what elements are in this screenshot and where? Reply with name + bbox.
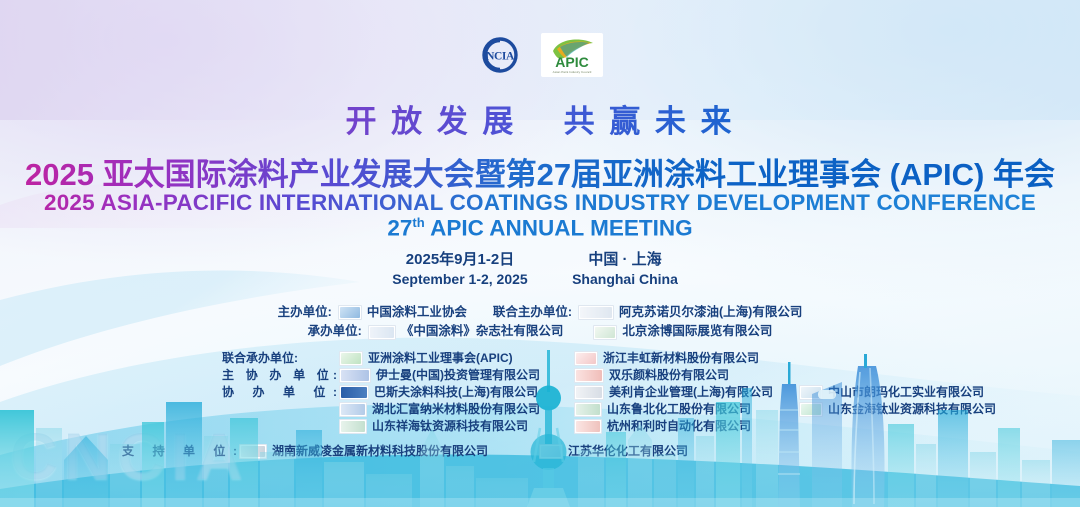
oriental-pearl-tower (527, 350, 570, 507)
event-date-en: September 1-2, 2025 (375, 270, 545, 289)
event-datebar: 2025年9月1-2日 September 1-2, 2025 中国 · 上海 … (0, 250, 1080, 289)
ncia-logo-icon: NCIA (477, 32, 523, 78)
cohost-label: 联合主办单位: (493, 303, 572, 322)
world-financial-center (812, 382, 842, 507)
event-place: 中国 · 上海 Shanghai China (545, 250, 705, 289)
event-place-en: Shanghai China (545, 270, 705, 289)
svg-text:APIC: APIC (555, 54, 588, 70)
shanghai-tower (851, 354, 884, 507)
akzonobel-chip-icon (578, 305, 614, 320)
title-english-line2: 27th APIC ANNUAL MEETING (0, 216, 1080, 240)
host-name: 中国涂料工业协会 (367, 303, 467, 322)
apic-logo-icon: APIC Asian Paint Industry Council (541, 33, 603, 77)
event-date-cn: 2025年9月1-2日 (375, 250, 545, 270)
svg-text:NCIA: NCIA (486, 51, 515, 63)
slogan: 开 放 发 展 共 赢 未 来 (0, 96, 1080, 141)
host-row: 主办单位: 中国涂料工业协会 联合主办单位: 阿克苏诺贝尔漆油(上海)有限公司 (0, 303, 1080, 322)
host-label: 主办单位: (278, 303, 332, 322)
slogan-part2: 共 赢 未 来 (564, 104, 735, 139)
logo-row: NCIA APIC Asian Paint Industry Council (0, 32, 1080, 78)
title-english-line1: 2025 ASIA-PACIFIC INTERNATIONAL COATINGS… (0, 192, 1080, 215)
cncia-chip-icon (338, 305, 362, 320)
jinmao-tower (778, 362, 800, 507)
meeting-ordinal-suffix: th (412, 215, 424, 230)
host-entry: 中国涂料工业协会 (332, 303, 467, 322)
meeting-ordinal: 27 (387, 216, 412, 241)
cohost-name: 阿克苏诺贝尔漆油(上海)有限公司 (619, 303, 802, 322)
conference-banner: CNCIA NCIA APIC Asian Paint Industry Cou… (0, 0, 1080, 507)
event-date: 2025年9月1-2日 September 1-2, 2025 (375, 250, 545, 289)
event-place-cn: 中国 · 上海 (545, 250, 705, 270)
cohost-entry: 阿克苏诺贝尔漆油(上海)有限公司 (572, 303, 802, 322)
slogan-part1: 开 放 发 展 (346, 104, 517, 139)
svg-text:Asian Paint Industry Council: Asian Paint Industry Council (553, 70, 592, 74)
title-chinese: 2025 亚太国际涂料产业发展大会暨第27届亚洲涂料工业理事会 (APIC) 年… (0, 149, 1080, 194)
shanghai-skyline (0, 332, 1080, 507)
meeting-name: APIC ANNUAL MEETING (425, 216, 693, 241)
